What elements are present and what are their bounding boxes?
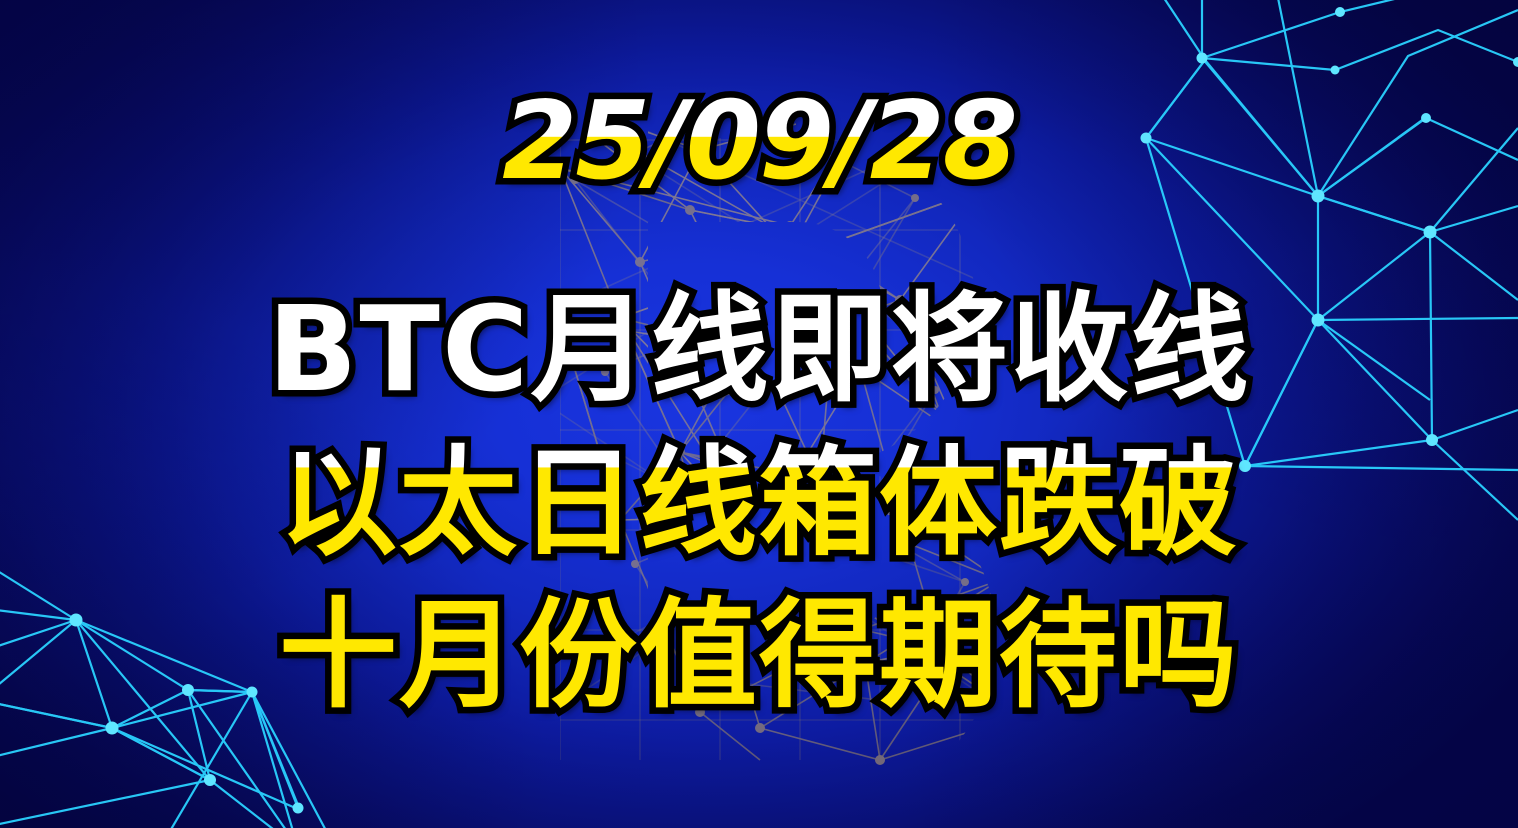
date-label-fill: 25/09/28 <box>502 79 1016 204</box>
headline-overlay: 25/09/28 25/09/28 BTC月线即将收线 BTC月线即将收线 以太… <box>0 0 1518 828</box>
headline-line-1-fill: BTC月线即将收线 <box>267 280 1250 418</box>
headline-line-3-fill: 十月份值得期待吗 <box>279 586 1239 724</box>
headline-line-2-fill: 以太日线箱体跌破 <box>279 434 1239 572</box>
headline-line-3: 十月份值得期待吗 十月份值得期待吗 <box>0 596 1518 714</box>
headline-line-1: BTC月线即将收线 BTC月线即将收线 <box>0 290 1518 408</box>
thumbnail-canvas: 25/09/28 25/09/28 BTC月线即将收线 BTC月线即将收线 以太… <box>0 0 1518 828</box>
date-label: 25/09/28 25/09/28 <box>0 88 1518 196</box>
headline-line-2: 以太日线箱体跌破 以太日线箱体跌破 <box>0 444 1518 562</box>
